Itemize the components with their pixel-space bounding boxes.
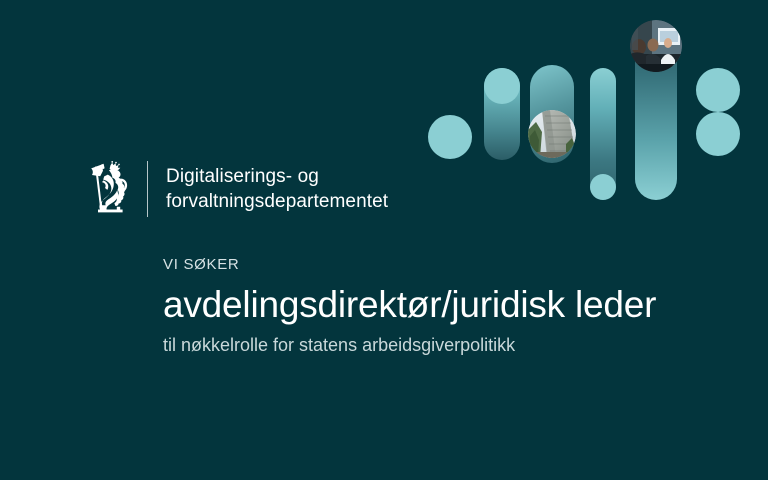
department-logo-lockup: Digitaliserings- og forvaltningsdepartem… <box>88 160 388 218</box>
logo-divider <box>147 161 148 217</box>
pill-cap-top-circle <box>484 68 520 104</box>
photo-building-facade <box>528 110 576 158</box>
headline-block: VI SØKER avdelingsdirektør/juridisk lede… <box>163 255 723 357</box>
photo-meeting-room <box>630 20 682 72</box>
job-subtitle: til nøkkelrolle for statens arbeidsgiver… <box>163 333 723 357</box>
department-name: Digitaliserings- og forvaltningsdepartem… <box>166 164 388 214</box>
circle-solid-upper-right <box>696 68 740 112</box>
decorative-graphic-cluster <box>420 0 768 220</box>
pill-cap-bottom-circle <box>590 174 616 200</box>
circle-solid-lower-right <box>696 112 740 156</box>
eyebrow-label: VI SØKER <box>163 255 723 275</box>
recruitment-poster: Digitaliserings- og forvaltningsdepartem… <box>0 0 768 480</box>
circle-solid-left <box>428 115 472 159</box>
norwegian-coat-of-arms-lion-icon <box>88 160 130 218</box>
job-title: avdelingsdirektør/juridisk leder <box>163 283 723 327</box>
